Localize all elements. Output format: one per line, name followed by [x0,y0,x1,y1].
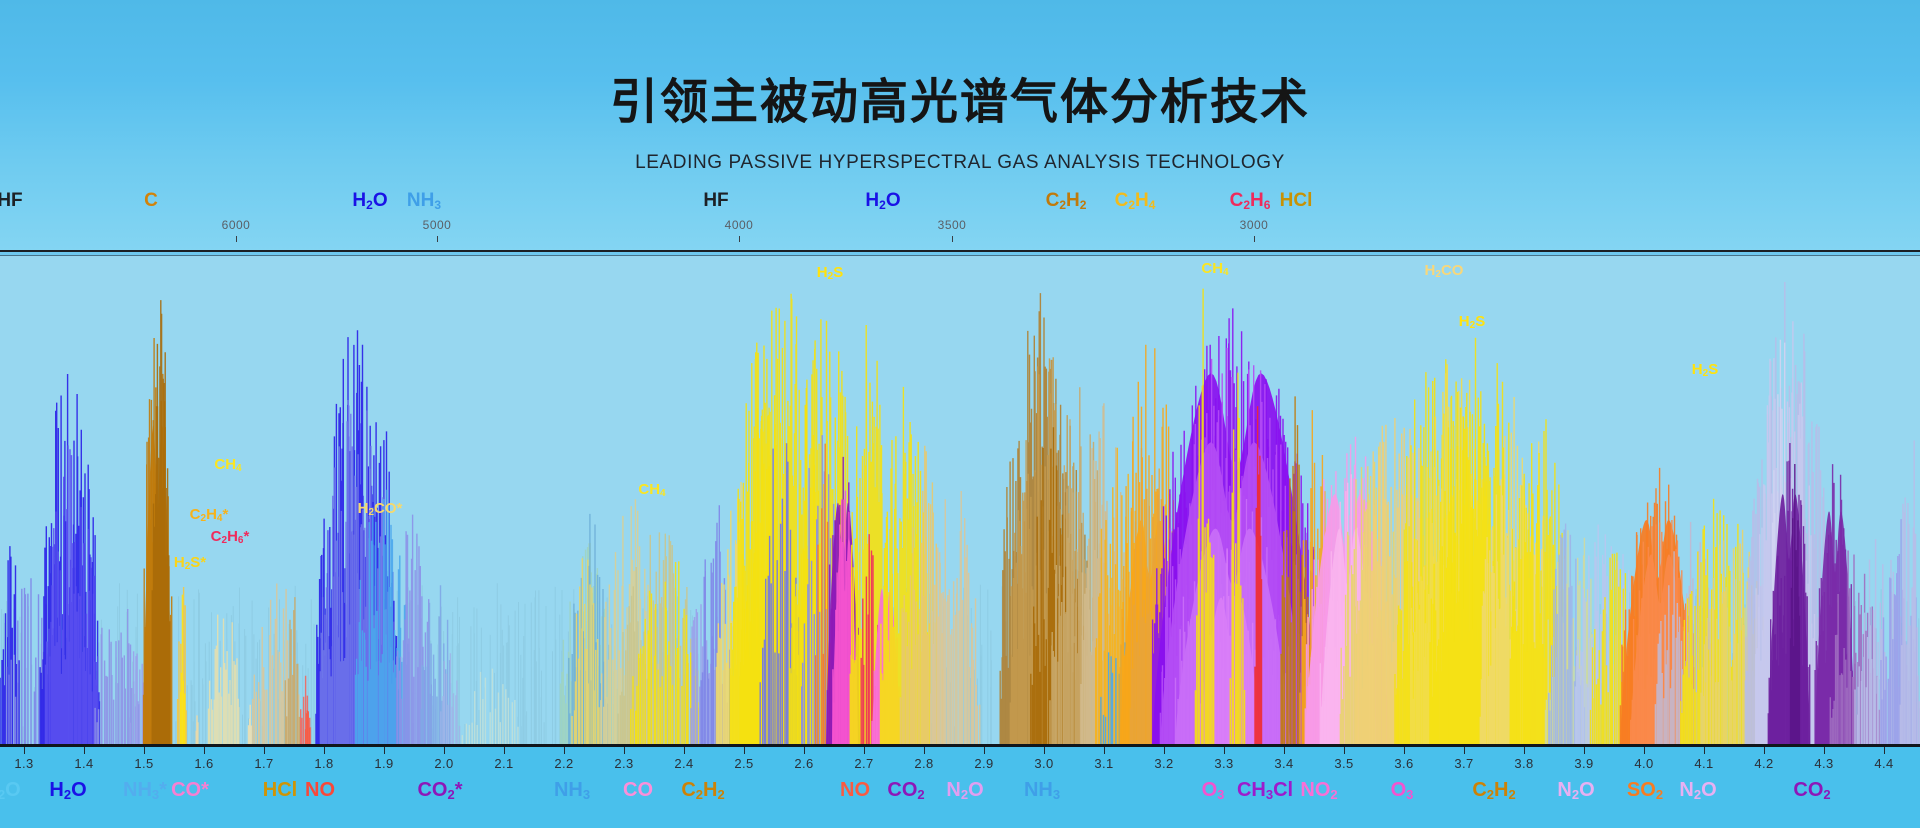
bottom-axis-tick-label: 2.8 [914,756,933,771]
top-species-label: NH3 [407,190,441,212]
bottom-axis-tick-label: 1.6 [194,756,213,771]
bottom-axis-tick-mark [1824,747,1825,754]
bottom-species-label: C2H2 [681,779,724,802]
bottom-axis-tick-mark [1884,747,1885,754]
bottom-axis-tick-label: 2.9 [974,756,993,771]
bottom-species-label: C2H2 [1472,779,1515,802]
top-species-label: C2H6 [1230,190,1271,212]
bottom-species-label: O3 [1391,779,1414,802]
bottom-species-label: CO2* [417,779,462,802]
spectrum-band [631,561,698,744]
bottom-axis-tick-label: 1.8 [314,756,333,771]
top-species-label: C [144,190,158,212]
spectrum-band [196,715,198,744]
bottom-axis-tick-mark [984,747,985,754]
bottom-axis-tick-label: 1.9 [374,756,393,771]
top-axis-tick-label: 3500 [938,218,967,232]
bottom-species-label: N2O [1557,779,1594,802]
bottom-axis-tick-mark [744,747,745,754]
top-axis-zone: HFCH2ONH3HFH2OC2H2C2H4C2H6HCl60005000400… [0,190,1920,252]
bottom-axis-tick-mark [1044,747,1045,754]
bottom-axis-tick-label: 3.4 [1274,756,1293,771]
bottom-axis-tick-mark [84,747,85,754]
spectrum-band [209,615,239,744]
bottom-axis-tick-label: 1.5 [134,756,153,771]
top-species-label: C2H4 [1115,190,1156,212]
bottom-axis-tick-mark [804,747,805,754]
bottom-axis-tick-label: 4.3 [1814,756,1833,771]
bottom-species-label: O3 [1202,779,1225,802]
top-axis-tick-mark [952,236,953,242]
bottom-axis-tick-label: 2.3 [614,756,633,771]
bottom-axis-tick-label: 3.0 [1034,756,1053,771]
bottom-species-label: CO [623,779,653,802]
bottom-axis-tick-label: 3.2 [1154,756,1173,771]
top-axis-tick-label: 6000 [222,218,251,232]
bottom-axis-tick-mark [204,747,205,754]
bottom-axis-tick-label: 2.0 [434,756,453,771]
bottom-species-label: SO2 [1627,779,1663,802]
bottom-axis-tick-mark [1284,747,1285,754]
bottom-axis-tick-label: 2.6 [794,756,813,771]
bottom-axis-tick-label: 2.4 [674,756,693,771]
top-species-label: HF [0,190,23,212]
bottom-axis-tick-mark [1104,747,1105,754]
top-species-label: H2O [865,190,900,212]
bottom-axis-tick-label: 1.4 [74,756,93,771]
bottom-species-label: N2O [1679,779,1716,802]
bottom-species-label: NH3* [123,779,167,802]
bottom-axis-tick-mark [384,747,385,754]
bottom-axis-tick-mark [1764,747,1765,754]
top-axis-tick-mark [1254,236,1255,242]
bottom-species-label: NH3 [1024,779,1060,802]
bottom-axis-tick-label: 2.1 [494,756,513,771]
bottom-species-label: HCl [263,779,297,802]
spectrum-band [931,491,980,744]
bottom-axis-tick-mark [1224,747,1225,754]
bottom-species-label: NO [840,779,870,802]
bottom-species-label: CH3Cl [1237,779,1293,802]
bottom-axis-tick-mark [564,747,565,754]
bottom-species-label: N2O [946,779,983,802]
bottom-species-label: CO2 [887,779,924,802]
top-axis-tick-label: 3000 [1240,218,1269,232]
bottom-axis-tick-mark [1164,747,1165,754]
bottom-axis-tick-mark [1704,747,1705,754]
bottom-axis-tick-mark [504,747,505,754]
top-species-label: HF [703,190,728,212]
bottom-axis-tick-label: 4.4 [1874,756,1893,771]
bottom-species-label: CO* [171,779,209,802]
top-axis-tick-mark [739,236,740,242]
bottom-axis-tick-label: 1.7 [254,756,273,771]
bottom-axis-tick-label: 4.0 [1634,756,1653,771]
bottom-species-label: NO2 [1300,779,1337,802]
bottom-axis-tick-mark [864,747,865,754]
spectrum-band [306,710,310,744]
page-subtitle: LEADING PASSIVE HYPERSPECTRAL GAS ANALYS… [0,152,1920,174]
bottom-axis-tick-mark [1404,747,1405,754]
bottom-axis-tick-mark [264,747,265,754]
bottom-axis-tick-mark [684,747,685,754]
bottom-axis-tick-mark [1524,747,1525,754]
bottom-axis-tick-label: 1.3 [14,756,33,771]
bottom-axis-tick-mark [1344,747,1345,754]
spectral-poster: 引领主被动高光谱气体分析技术 LEADING PASSIVE HYPERSPEC… [0,0,1920,828]
bottom-species-label: NH3 [554,779,590,802]
bottom-axis-tick-mark [1584,747,1585,754]
top-species-label: HCl [1280,190,1313,212]
bottom-axis-zone: 1.31.41.51.61.71.81.92.02.12.22.32.42.52… [0,747,1920,828]
top-species-label: C2H2 [1046,190,1087,212]
top-axis-line [0,250,1920,252]
bottom-species-label: H2O [0,779,21,802]
bottom-axis-tick-label: 3.6 [1394,756,1413,771]
bottom-axis-tick-label: 3.3 [1214,756,1233,771]
bottom-axis-tick-label: 3.8 [1514,756,1533,771]
bottom-axis-tick-mark [24,747,25,754]
spectrum-canvas [0,256,1920,744]
bottom-axis-tick-mark [1644,747,1645,754]
page-title: 引领主被动高光谱气体分析技术 [0,62,1920,132]
bottom-axis-tick-label: 2.2 [554,756,573,771]
bottom-axis-tick-label: 4.2 [1754,756,1773,771]
top-axis-tick-label: 4000 [725,218,754,232]
bottom-axis-tick-mark [324,747,325,754]
bottom-axis-tick-label: 2.7 [854,756,873,771]
bottom-axis-tick-label: 3.5 [1334,756,1353,771]
bottom-axis-tick-label: 3.1 [1094,756,1113,771]
bottom-axis-tick-label: 3.9 [1574,756,1593,771]
bottom-axis-tick-mark [144,747,145,754]
bottom-axis-tick-mark [1464,747,1465,754]
bottom-axis-tick-label: 2.5 [734,756,753,771]
bottom-axis-tick-label: 4.1 [1694,756,1713,771]
spectrum-plot: CH4C2H4*C2H6*H2S*H2CO*CH4H2SCH4H2COH2SH2… [0,256,1920,744]
bottom-species-label: CO2 [1793,779,1830,802]
top-axis-tick-mark [437,236,438,242]
bottom-axis-tick-mark [444,747,445,754]
bottom-species-label: H2O [49,779,86,802]
bottom-axis-tick-mark [624,747,625,754]
bottom-species-label: NO [305,779,335,802]
spectrum-band [1900,440,1919,744]
top-axis-tick-label: 5000 [423,218,452,232]
top-species-label: H2O [352,190,387,212]
top-axis-tick-mark [236,236,237,242]
bottom-axis-tick-mark [924,747,925,754]
bottom-axis-tick-label: 3.7 [1454,756,1473,771]
